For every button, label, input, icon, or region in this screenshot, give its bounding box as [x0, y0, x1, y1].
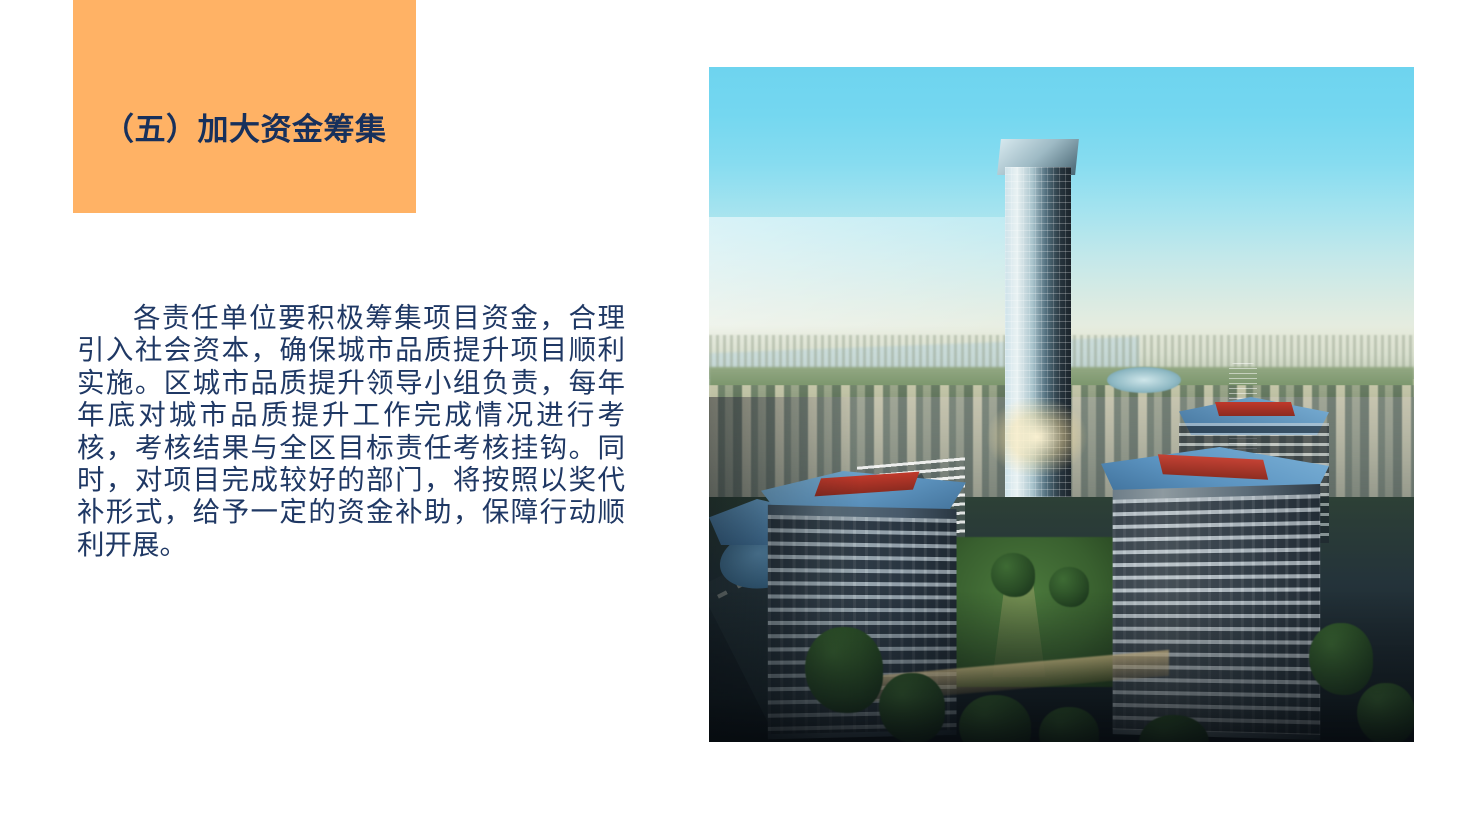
sun-glint [987, 397, 1087, 477]
water-feature [1107, 367, 1181, 393]
title-banner: （五）加大资金筹集 [73, 0, 416, 213]
body-paragraph: 各责任单位要积极筹集项目资金，合理引入社会资本，确保城市品质提升项目顺利实施。区… [77, 302, 625, 561]
page-title: （五）加大资金筹集 [103, 111, 387, 148]
tower-facade-grid [1005, 167, 1071, 542]
tree [991, 553, 1035, 597]
city-rendering-image [709, 67, 1414, 742]
slide-canvas: （五）加大资金筹集 各责任单位要积极筹集项目资金，合理引入社会资本，确保城市品质… [0, 0, 1475, 826]
bottom-shadow-vignette [709, 592, 1414, 742]
building-c-roof-accent [1215, 402, 1295, 416]
